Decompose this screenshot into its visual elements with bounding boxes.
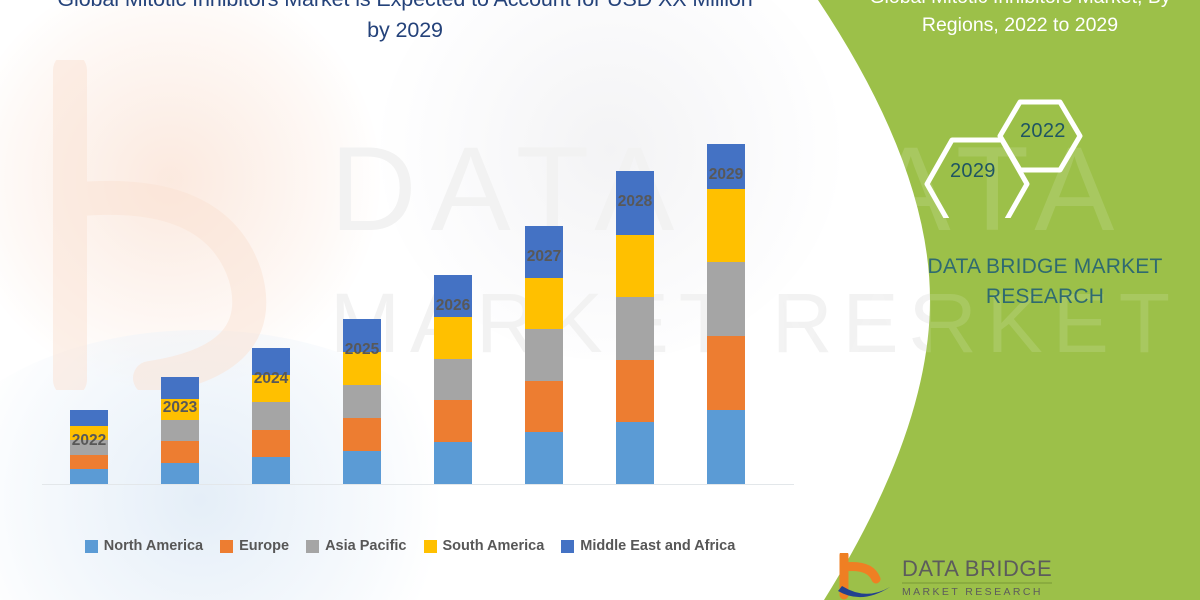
hexagon-label-2022: 2022 xyxy=(1020,120,1066,143)
chart-legend: North AmericaEuropeAsia PacificSouth Ame… xyxy=(40,538,780,554)
bar-group-2022[interactable]: 2022 xyxy=(70,410,108,484)
bar-group-2029[interactable]: 2029 xyxy=(707,144,745,484)
x-axis-tick-label: 2023 xyxy=(135,399,225,417)
bar-segment[interactable] xyxy=(525,381,563,433)
legend-item[interactable]: South America xyxy=(424,538,545,554)
bar-segment[interactable] xyxy=(434,400,472,442)
legend-item[interactable]: Middle East and Africa xyxy=(561,538,735,554)
legend-label: Asia Pacific xyxy=(325,538,406,554)
bar-stack xyxy=(161,377,199,484)
x-axis-tick-label: 2025 xyxy=(317,341,407,359)
corner-logo: DATA BRIDGE MARKET RESEARCH xyxy=(836,552,1176,600)
bar-segment[interactable] xyxy=(434,359,472,401)
bar-group-2024[interactable]: 2024 xyxy=(252,348,290,484)
hexagon-badges: 2029 2022 xyxy=(920,98,1110,218)
brand-name-line-2: RESEARCH xyxy=(986,285,1104,308)
bar-segment[interactable] xyxy=(616,235,654,297)
bar-segment[interactable] xyxy=(525,278,563,330)
corner-logo-text: DATA BRIDGE MARKET RESEARCH xyxy=(902,558,1052,598)
bar-stack xyxy=(252,348,290,484)
bar-segment[interactable] xyxy=(616,422,654,484)
panel-title: Global Mitotic Inhibitors Market, By Reg… xyxy=(845,0,1195,39)
bar-segment[interactable] xyxy=(70,455,108,470)
bar-segment[interactable] xyxy=(434,442,472,484)
bar-segment[interactable] xyxy=(434,317,472,359)
legend-swatch xyxy=(306,540,319,553)
legend-item[interactable]: North America xyxy=(85,538,203,554)
x-axis-tick-label: 2028 xyxy=(590,193,680,211)
legend-swatch xyxy=(561,540,574,553)
bar-segment[interactable] xyxy=(70,469,108,484)
x-axis-tick-label: 2029 xyxy=(681,166,771,184)
brand-name: DATA BRIDGE MARKET RESEARCH xyxy=(880,252,1200,313)
legend-label: Europe xyxy=(239,538,289,554)
bar-segment[interactable] xyxy=(161,463,199,484)
bar-segment[interactable] xyxy=(525,432,563,484)
legend-item[interactable]: Asia Pacific xyxy=(306,538,406,554)
bar-segment[interactable] xyxy=(343,385,381,418)
legend-label: Middle East and Africa xyxy=(580,538,735,554)
bar-segment[interactable] xyxy=(70,410,108,426)
legend-label: South America xyxy=(443,538,545,554)
bar-group-2025[interactable]: 2025 xyxy=(343,319,381,484)
bar-segment[interactable] xyxy=(707,336,745,410)
legend-label: North America xyxy=(104,538,203,554)
legend-swatch xyxy=(220,540,233,553)
bar-stack xyxy=(707,144,745,484)
legend-item[interactable]: Europe xyxy=(220,538,289,554)
bar-segment[interactable] xyxy=(161,377,199,398)
bar-segment[interactable] xyxy=(252,457,290,484)
stacked-bar-chart: 20222023202420252026202720282029 xyxy=(0,0,820,600)
bar-segment[interactable] xyxy=(525,329,563,381)
bar-segment[interactable] xyxy=(707,262,745,336)
bar-segment[interactable] xyxy=(161,441,199,462)
bar-segment[interactable] xyxy=(252,402,290,429)
x-axis-tick-label: 2022 xyxy=(44,432,134,450)
corner-logo-primary: DATA BRIDGE xyxy=(902,558,1052,584)
data-bridge-logo-icon xyxy=(836,553,892,600)
bar-segment[interactable] xyxy=(707,410,745,484)
bar-segment[interactable] xyxy=(616,297,654,359)
x-axis-tick-label: 2024 xyxy=(226,370,316,388)
hexagon-outline-icon xyxy=(920,98,1110,218)
bar-group-2023[interactable]: 2023 xyxy=(161,377,199,484)
bar-stack xyxy=(616,171,654,484)
bar-segment[interactable] xyxy=(161,420,199,441)
legend-swatch xyxy=(424,540,437,553)
bar-segment[interactable] xyxy=(343,418,381,451)
corner-logo-secondary: MARKET RESEARCH xyxy=(902,587,1052,598)
bar-group-2026[interactable]: 2026 xyxy=(434,275,472,484)
bar-group-2028[interactable]: 2028 xyxy=(616,171,654,484)
bar-segment[interactable] xyxy=(616,360,654,422)
bar-segment[interactable] xyxy=(343,451,381,484)
brand-name-line-1: DATA BRIDGE MARKET xyxy=(927,255,1162,278)
legend-swatch xyxy=(85,540,98,553)
axis-baseline xyxy=(42,484,794,485)
x-axis-tick-label: 2026 xyxy=(408,297,498,315)
hexagon-label-2029: 2029 xyxy=(950,160,996,183)
bar-group-2027[interactable]: 2027 xyxy=(525,226,563,484)
infographic-canvas: DATA MARKET RESEARCH Global Mitotic Inhi… xyxy=(0,0,1200,600)
x-axis-tick-label: 2027 xyxy=(499,248,589,266)
bar-segment[interactable] xyxy=(252,430,290,457)
bar-segment[interactable] xyxy=(707,189,745,263)
